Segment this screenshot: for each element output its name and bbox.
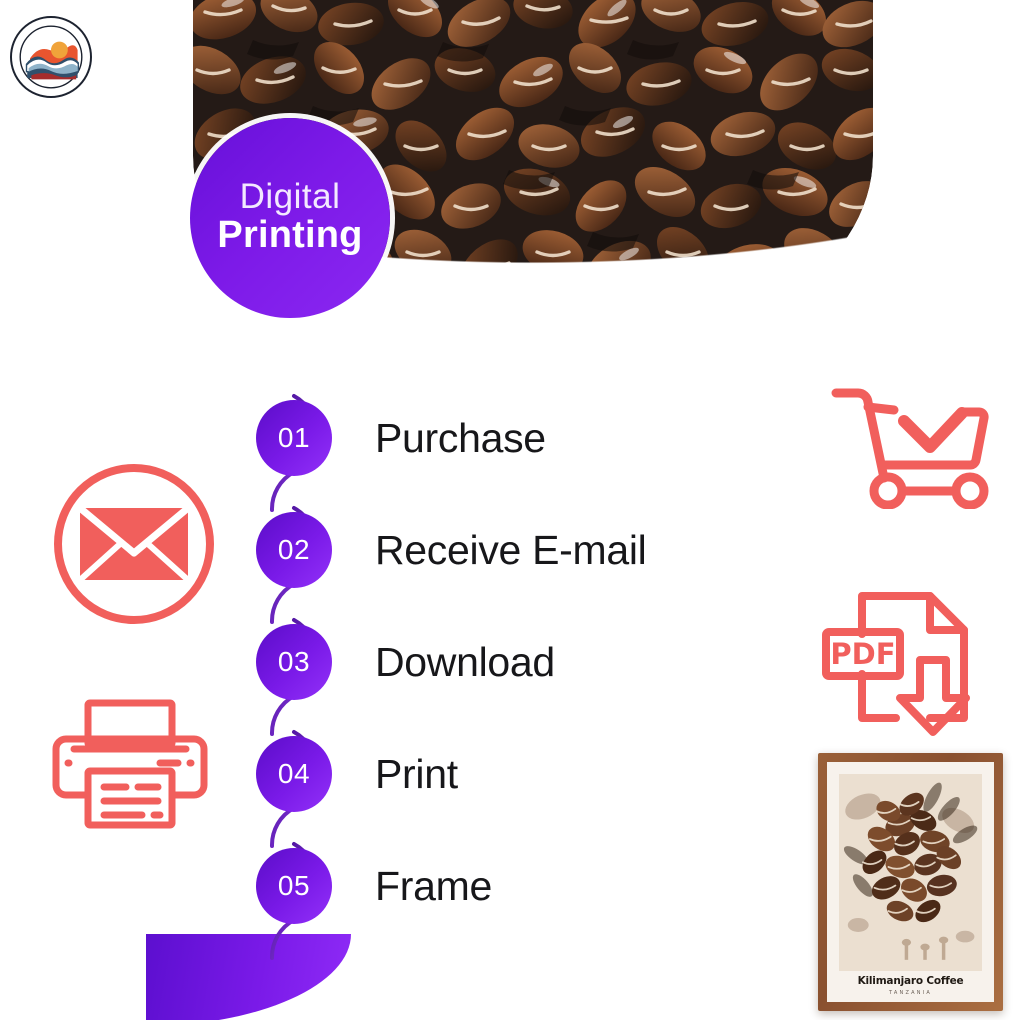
badge-line-1: Digital <box>240 179 341 214</box>
badge-line-2: Printing <box>217 214 362 257</box>
email-envelope-icon <box>48 458 220 630</box>
step-item[interactable]: 03 Download <box>230 612 790 724</box>
poster-artwork <box>839 774 982 971</box>
poster-caption: Kilimanjaro Coffee TANZANIA <box>839 971 982 996</box>
step-label: Receive E-mail <box>375 516 785 584</box>
shopping-cart-check-icon <box>830 385 1002 509</box>
pdf-label: PDF <box>830 637 895 671</box>
framed-poster: Kilimanjaro Coffee TANZANIA <box>818 753 1003 1011</box>
steps-list: 01 Purchase 02 Receive E-mail 03 Downloa… <box>230 388 790 948</box>
brand-logo <box>10 16 92 98</box>
digital-printing-badge: Digital Printing <box>190 118 390 318</box>
step-number-badge: 05 <box>256 848 332 924</box>
step-item[interactable]: 02 Receive E-mail <box>230 500 790 612</box>
pdf-download-icon: PDF <box>818 588 984 738</box>
poster-canvas: Digital Printing <box>0 0 1020 1020</box>
step-item[interactable]: 05 Frame <box>230 836 790 948</box>
poster-coffee-beans-icon <box>839 774 982 971</box>
step-label: Download <box>375 628 785 696</box>
poster-title: Kilimanjaro Coffee <box>839 976 982 988</box>
printer-icon <box>50 697 210 832</box>
step-number-badge: 02 <box>256 512 332 588</box>
step-number-badge: 03 <box>256 624 332 700</box>
step-label: Frame <box>375 852 785 920</box>
step-number-badge: 04 <box>256 736 332 812</box>
step-item[interactable]: 01 Purchase <box>230 388 790 500</box>
poster-subtitle: TANZANIA <box>839 988 982 996</box>
step-label: Print <box>375 740 785 808</box>
hokusai-wave-icon <box>16 22 86 92</box>
step-item[interactable]: 04 Print <box>230 724 790 836</box>
step-label: Purchase <box>375 404 785 472</box>
brand-logo-inner <box>16 22 86 92</box>
step-number-badge: 01 <box>256 400 332 476</box>
poster-mat: Kilimanjaro Coffee TANZANIA <box>827 762 994 1002</box>
